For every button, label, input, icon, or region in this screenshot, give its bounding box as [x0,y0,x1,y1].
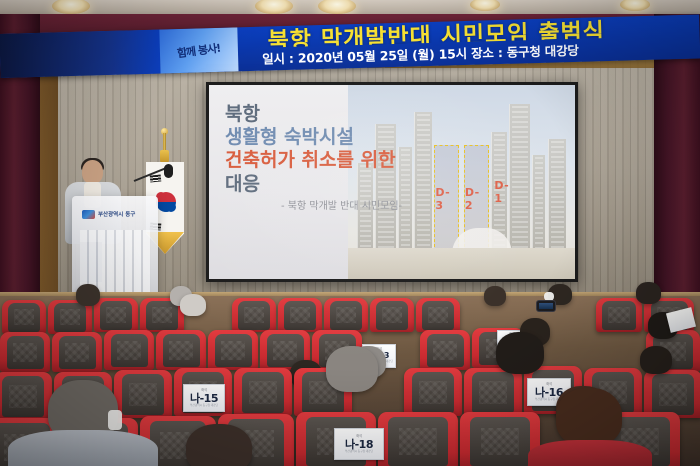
banner-left-edge [0,30,161,78]
podium-nameplate: 부산광역시 동구 [82,208,148,220]
building [548,139,566,252]
podium-nameplate-text: 부산광역시 동구 [98,210,135,218]
flag-pole [163,133,166,151]
microphone-stem [134,167,168,182]
slide-line-3: 건축허가 취소를 위한 [225,149,455,172]
seat [378,412,458,466]
building-label-d2: D-2 [465,186,488,212]
seat [278,298,322,332]
microphone [132,160,174,200]
seat [0,332,50,372]
speaker-head [82,160,103,184]
slide-text-block: 북항 생활형 숙박시설 건축허가 취소를 위한 대응 [225,103,455,196]
building-label-d1: D-1 [494,179,515,205]
audience-head [496,332,544,374]
seat [370,298,414,332]
audience-head [326,346,378,392]
audience-head [186,424,252,466]
highlight-box-d1: D-1 [493,151,516,232]
audience-shoulders [8,430,158,466]
photograph-scene: 함께 봉사! 북항 막개발반대 시민모임 출범식 일시 : 2020년 05월 … [0,0,700,466]
seat [416,298,460,332]
cityscape-foreground [348,248,575,279]
seat [596,298,642,332]
seat [2,300,46,334]
seat [464,368,522,416]
audience-shoulders [528,440,652,466]
slide-subtitle: - 북항 막개발 반대 시민모임- [281,197,402,212]
seat [104,330,154,370]
audience-head [636,282,661,304]
district-emblem-icon [82,210,95,219]
seat [404,368,462,416]
smartphone [536,300,556,312]
projection-screen: D-3 D-2 D-1 북항 생활형 숙박시설 건축허가 취소를 위한 대응 -… [209,85,575,279]
audience-head [180,294,206,316]
slide-line-1: 북항 [225,103,455,126]
seat-label: 좌석 나-18 부산광역시 동구청 대강당 [334,428,384,460]
seat [114,370,172,418]
seat [0,372,52,420]
seat [644,370,700,418]
audience-head [76,284,100,306]
seat [324,298,368,332]
face-mask [108,410,122,430]
seat [208,330,258,370]
banner-logo-text: 함께 봉사! [176,40,221,62]
seat [52,332,102,372]
building [532,155,546,252]
audience-head [556,388,622,446]
seat [420,330,470,370]
seat [94,298,138,332]
slide-line-4: 대응 [225,173,455,196]
banner-logo: 함께 봉사! [159,27,238,73]
seat [232,298,276,332]
audience-head [640,346,672,374]
audience-head [484,286,506,306]
seat [234,368,292,416]
seat [156,330,206,370]
slide-line-2: 생활형 숙박시설 [225,126,455,149]
projection-screen-frame: D-3 D-2 D-1 북항 생활형 숙박시설 건축허가 취소를 위한 대응 -… [206,82,578,282]
microphone-head [164,164,173,178]
seat-label: 좌석 나-15 부산광역시 동구청 대강당 [183,384,225,412]
